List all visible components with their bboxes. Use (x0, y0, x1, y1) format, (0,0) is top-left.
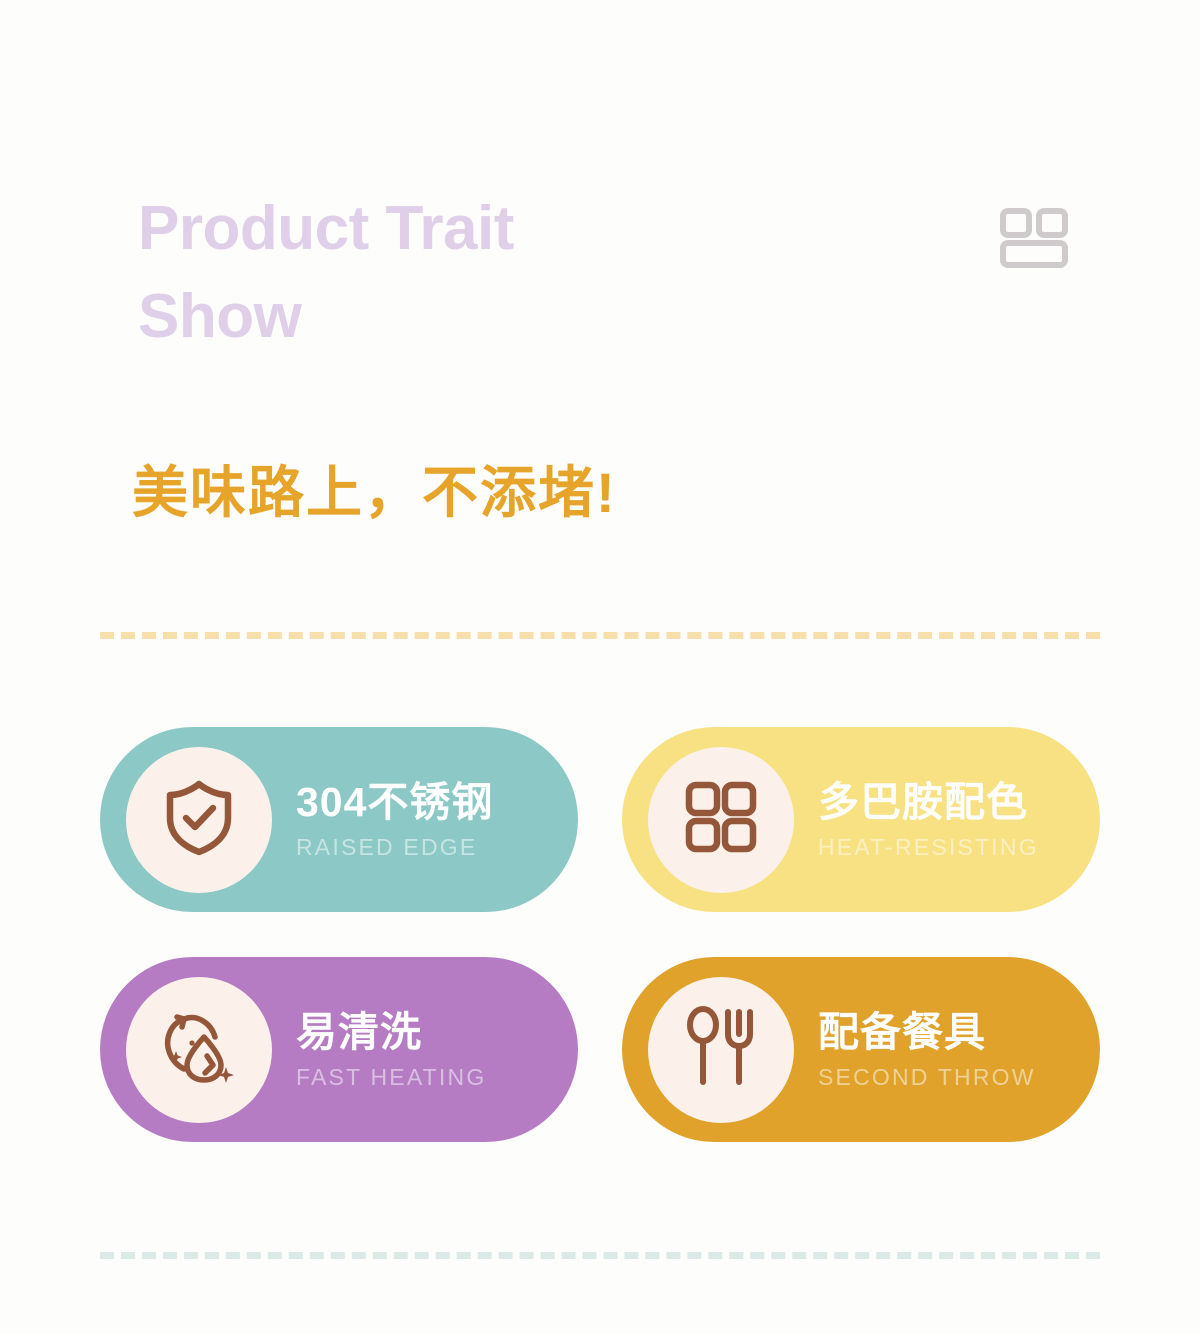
card-subtitle: HEAT-RESISTING (818, 834, 1039, 861)
product-trait-show-page: Product Trait Show 美味路上，不添堵! (0, 0, 1200, 1334)
feature-card-easy-clean[interactable]: 易清洗 FAST HEATING (100, 957, 578, 1142)
icon-badge (126, 747, 272, 893)
feature-card-tableware-included[interactable]: 配备餐具 SECOND THROW (622, 957, 1100, 1142)
card-title: 易清洗 (296, 1008, 486, 1056)
icon-badge (648, 977, 794, 1123)
card-subtitle: RAISED EDGE (296, 834, 493, 861)
spoon-fork-icon (684, 1006, 758, 1093)
page-title: Product Trait Show (138, 185, 514, 361)
icon-badge (126, 977, 272, 1123)
card-subtitle: FAST HEATING (296, 1064, 486, 1091)
divider-bottom (100, 1252, 1100, 1259)
feature-card-grid: 304不锈钢 RAISED EDGE 多巴胺配色 HEAT-RESISTING (100, 727, 1100, 1142)
page-header: Product Trait Show (138, 185, 1090, 361)
layout-grid-icon[interactable] (998, 207, 1070, 274)
grid-four-squares-icon (683, 779, 759, 860)
card-text-block: 多巴胺配色 HEAT-RESISTING (818, 778, 1039, 860)
shield-check-icon (162, 777, 236, 862)
feature-card-dopamine-colors[interactable]: 多巴胺配色 HEAT-RESISTING (622, 727, 1100, 912)
divider-top (100, 632, 1100, 639)
card-text-block: 易清洗 FAST HEATING (296, 1008, 486, 1090)
card-subtitle: SECOND THROW (818, 1064, 1036, 1091)
card-title: 304不锈钢 (296, 778, 493, 826)
subtitle-slogan: 美味路上，不添堵! (132, 448, 617, 529)
feature-card-stainless-steel[interactable]: 304不锈钢 RAISED EDGE (100, 727, 578, 912)
water-drop-refresh-icon (159, 1007, 239, 1092)
card-text-block: 配备餐具 SECOND THROW (818, 1008, 1036, 1090)
icon-badge (648, 747, 794, 893)
card-title: 配备餐具 (818, 1008, 1036, 1056)
card-title: 多巴胺配色 (818, 778, 1039, 826)
card-text-block: 304不锈钢 RAISED EDGE (296, 778, 493, 860)
